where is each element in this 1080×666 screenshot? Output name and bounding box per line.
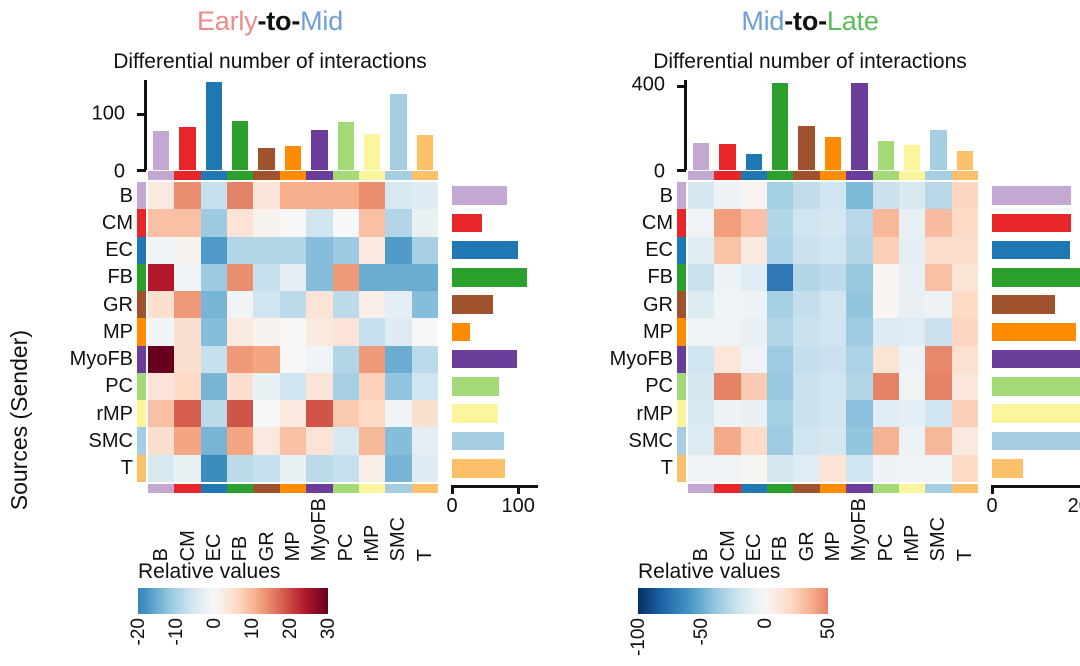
colorbar-tick-50: 50	[819, 618, 838, 639]
heatmap-cell	[227, 455, 253, 482]
row-bar-series-left	[452, 182, 538, 482]
colorbar-ticks-left: -20-100102030	[138, 614, 328, 660]
heatmap-cell	[767, 455, 793, 482]
row-color-key-left	[137, 182, 146, 482]
top-bar-slot	[174, 80, 200, 170]
heatmap-cell	[793, 318, 819, 345]
heatmap-cell	[820, 237, 846, 264]
row-key-FB	[137, 264, 146, 291]
heatmap-cell	[952, 346, 978, 373]
row-bar-slot	[452, 182, 538, 209]
col-label-text: T	[955, 498, 975, 561]
col-label-GR: GR	[793, 498, 819, 561]
heatmap-cell	[846, 209, 872, 236]
top-chart-tick: 0	[677, 169, 686, 172]
heatmap-cell	[306, 318, 332, 345]
heatmap-cell	[767, 400, 793, 427]
col-key-CM	[174, 171, 200, 180]
heatmap-cell	[227, 264, 253, 291]
row-key-PC	[677, 373, 686, 400]
heatmap-cell	[688, 237, 714, 264]
row-key-T	[677, 455, 686, 482]
col-label-text: MyoFB	[309, 498, 329, 561]
top-bar-series-left	[148, 80, 438, 170]
row-bar-EC	[992, 241, 1070, 260]
col-label-FB: FB	[227, 498, 253, 561]
row-bar-slot	[992, 291, 1080, 318]
top-bar-CM	[719, 144, 735, 170]
heatmap-cell	[280, 373, 306, 400]
col-label-CM: CM	[174, 498, 200, 561]
heatmap-cell	[820, 264, 846, 291]
col-color-key-bottom-right	[688, 484, 978, 493]
top-bar-GR	[798, 126, 814, 170]
col-label-text: SMC	[388, 498, 408, 561]
col-key-B	[148, 171, 174, 180]
heatmap-cell	[385, 346, 411, 373]
col-label-text: CM	[718, 498, 738, 561]
heatmap-cell	[952, 373, 978, 400]
heatmap-cell	[253, 237, 279, 264]
heatmap-cell	[148, 346, 174, 373]
heatmap-cell	[820, 400, 846, 427]
heatmap-cell	[333, 182, 359, 209]
col-key-rMP	[899, 484, 925, 493]
row-labels-left: BCMECFBGRMPMyoFBPCrMPSMCT	[70, 182, 133, 482]
heatmap-cell	[741, 373, 767, 400]
heatmap-cell	[333, 264, 359, 291]
heatmap-cell	[385, 373, 411, 400]
heatmap-wrap-left: BCMECFBGRMPMyoFBPCrMPSMCT BCMECFBGRMPMyo…	[148, 182, 438, 482]
row-bar-slot	[992, 182, 1080, 209]
colorbar-tick-30: 30	[319, 618, 338, 639]
heatmap-cell	[873, 427, 899, 454]
heatmap-cell	[846, 346, 872, 373]
row-bar-MyoFB	[452, 350, 517, 369]
heatmap-cell	[306, 237, 332, 264]
heatmap-cell	[148, 318, 174, 345]
row-bar-PC	[452, 377, 499, 396]
heatmap-cell	[253, 455, 279, 482]
top-bar-rMP	[364, 134, 380, 170]
heatmap-cell	[793, 291, 819, 318]
heatmap-cell	[952, 318, 978, 345]
heatmap-cell	[148, 291, 174, 318]
heatmap-cell	[385, 455, 411, 482]
heatmap-cell	[873, 291, 899, 318]
heatmap-cell	[253, 264, 279, 291]
heatmap-cell	[820, 455, 846, 482]
heatmap-cell	[925, 237, 951, 264]
col-key-B	[688, 171, 714, 180]
heatmap-cell	[333, 291, 359, 318]
row-label-MP: MP	[610, 318, 673, 345]
heatmap-cell	[741, 291, 767, 318]
heatmap-cell	[412, 182, 438, 209]
top-bar-B	[693, 143, 709, 170]
colorbar-tick--50: -50	[692, 618, 711, 645]
heatmap-cell	[412, 427, 438, 454]
top-chart-tick: 0	[137, 169, 146, 172]
heatmap-cell	[174, 264, 200, 291]
heatmap-cell	[385, 400, 411, 427]
row-label-PC: PC	[610, 373, 673, 400]
col-label-EC: EC	[741, 498, 767, 561]
heatmap-cell	[148, 400, 174, 427]
col-labels-left: BCMECFBGRMPMyoFBPCrMPSMCT	[148, 498, 438, 561]
col-label-SMC: SMC	[385, 498, 411, 561]
heatmap-cell	[688, 318, 714, 345]
heatmap-cell	[306, 264, 332, 291]
col-label-rMP: rMP	[359, 498, 385, 561]
row-bar-slot	[452, 455, 538, 482]
col-key-MyoFB	[846, 484, 872, 493]
heatmap-cell	[846, 427, 872, 454]
heatmap-grid-left	[148, 182, 438, 482]
col-key-CM	[174, 484, 200, 493]
legend-title-right: Relative values	[638, 560, 828, 584]
heatmap-cell	[227, 291, 253, 318]
heatmap-cell	[741, 237, 767, 264]
title-part-2: Mid	[300, 6, 343, 36]
top-bar-T	[957, 151, 973, 170]
heatmap-cell	[412, 455, 438, 482]
row-key-CM	[677, 209, 686, 236]
heatmap-cell	[359, 400, 385, 427]
heatmap-cell	[280, 346, 306, 373]
heatmap-cell	[793, 373, 819, 400]
heatmap-cell	[820, 318, 846, 345]
row-label-B: B	[610, 182, 673, 209]
colorbar-tick--20: -20	[129, 618, 148, 645]
row-label-MyoFB: MyoFB	[610, 346, 673, 373]
row-key-T	[137, 455, 146, 482]
col-key-MyoFB	[306, 484, 332, 493]
heatmap-cell	[174, 318, 200, 345]
top-bar-chart-left: 0100	[148, 80, 438, 170]
col-key-T	[952, 484, 978, 493]
colorbar-right	[638, 588, 828, 614]
heatmap-cell	[359, 264, 385, 291]
top-bar-slot	[333, 80, 359, 170]
row-key-CM	[137, 209, 146, 236]
heatmap-cell	[793, 182, 819, 209]
heatmap-cell	[688, 346, 714, 373]
col-key-rMP	[899, 171, 925, 180]
row-bar-rMP	[452, 404, 498, 423]
col-label-text: PC	[336, 498, 356, 561]
heatmap-cell	[412, 291, 438, 318]
heatmap-cell	[201, 400, 227, 427]
heatmap-cell	[952, 182, 978, 209]
heatmap-cell	[688, 373, 714, 400]
top-bar-T	[417, 135, 433, 170]
heatmap-cell	[820, 427, 846, 454]
heatmap-cell	[899, 400, 925, 427]
heatmap-cell	[899, 346, 925, 373]
col-color-key-bottom-left	[148, 484, 438, 493]
top-bar-slot	[385, 80, 411, 170]
heatmap-cell	[688, 264, 714, 291]
row-key-SMC	[137, 427, 146, 454]
col-key-rMP	[359, 171, 385, 180]
heatmap-cell	[385, 264, 411, 291]
top-bar-slot	[148, 80, 174, 170]
row-bar-slot	[452, 346, 538, 373]
col-key-FB	[767, 171, 793, 180]
heatmap-cell	[873, 318, 899, 345]
heatmap-cell	[227, 373, 253, 400]
heatmap-cell	[793, 237, 819, 264]
top-bar-slot	[925, 80, 951, 170]
y-axis-label-sources: Sources (Sender)	[6, 330, 33, 510]
row-axis-tick	[991, 485, 994, 494]
top-bar-FB	[772, 83, 788, 170]
heatmap-cell	[925, 346, 951, 373]
heatmap-cell	[873, 400, 899, 427]
heatmap-cell	[846, 237, 872, 264]
heatmap-cell	[148, 373, 174, 400]
heatmap-cell	[952, 264, 978, 291]
heatmap-cell	[767, 237, 793, 264]
title-part-2: Late	[827, 6, 879, 36]
row-key-GR	[137, 291, 146, 318]
row-key-EC	[137, 237, 146, 264]
colorbar-left	[138, 588, 328, 614]
row-axis-tick	[517, 485, 520, 494]
row-key-EC	[677, 237, 686, 264]
row-key-rMP	[677, 400, 686, 427]
row-label-rMP: rMP	[70, 400, 133, 427]
top-bar-GR	[258, 148, 274, 171]
top-bar-slot	[767, 80, 793, 170]
heatmap-cell	[280, 237, 306, 264]
col-label-text: B	[151, 498, 171, 561]
heatmap-cell	[412, 209, 438, 236]
panel-mid-to-late: Mid-to-Late Differential number of inter…	[540, 0, 1080, 666]
col-key-B	[688, 484, 714, 493]
heatmap-cell	[714, 400, 740, 427]
row-label-SMC: SMC	[70, 427, 133, 454]
heatmap-cell	[306, 427, 332, 454]
heatmap-cell	[741, 182, 767, 209]
row-bar-CM	[992, 214, 1071, 233]
col-label-text: FB	[770, 498, 790, 561]
top-bar-slot	[688, 80, 714, 170]
heatmap-cell	[741, 318, 767, 345]
heatmap-cell	[846, 318, 872, 345]
col-label-MyoFB: MyoFB	[306, 498, 332, 561]
heatmap-cell	[280, 318, 306, 345]
heatmap-cell	[688, 455, 714, 482]
col-label-text: GR	[257, 498, 277, 561]
col-key-MP	[280, 171, 306, 180]
top-chart-tick-label: 100	[92, 103, 125, 123]
col-key-GR	[253, 484, 279, 493]
row-bar-MP	[992, 323, 1076, 342]
heatmap-cell	[201, 373, 227, 400]
heatmap-cell	[412, 400, 438, 427]
heatmap-cell	[306, 209, 332, 236]
heatmap-cell	[174, 237, 200, 264]
heatmap-cell	[688, 209, 714, 236]
heatmap-cell	[306, 455, 332, 482]
heatmap-cell	[359, 209, 385, 236]
row-key-B	[137, 182, 146, 209]
heatmap-cell	[333, 346, 359, 373]
heatmap-cell	[148, 182, 174, 209]
heatmap-cell	[412, 318, 438, 345]
top-chart-tick-label: 400	[632, 75, 665, 95]
top-bar-PC	[338, 122, 354, 170]
row-axis-tick	[451, 485, 454, 494]
row-bar-slot	[992, 264, 1080, 291]
heatmap-cell	[227, 427, 253, 454]
row-label-FB: FB	[70, 264, 133, 291]
heatmap-cell	[201, 346, 227, 373]
panel-subtitle-right: Differential number of interactions	[540, 50, 1080, 74]
row-bar-slot	[452, 291, 538, 318]
row-bar-slot	[992, 455, 1080, 482]
top-bar-slot	[359, 80, 385, 170]
top-bar-slot	[952, 80, 978, 170]
heatmap-cell	[714, 209, 740, 236]
heatmap-cell	[952, 209, 978, 236]
col-key-PC	[873, 484, 899, 493]
row-bar-slot	[992, 209, 1080, 236]
top-bar-MP	[285, 146, 301, 170]
col-label-MyoFB: MyoFB	[846, 498, 872, 561]
heatmap-cell	[767, 373, 793, 400]
col-key-EC	[201, 484, 227, 493]
heatmap-cell	[174, 427, 200, 454]
figure-root: Early-to-Mid Differential number of inte…	[0, 0, 1080, 666]
row-bar-chart-right: 0200	[992, 182, 1080, 482]
heatmap-cell	[280, 291, 306, 318]
heatmap-cell	[793, 209, 819, 236]
col-label-T: T	[412, 498, 438, 561]
heatmap-cell	[201, 455, 227, 482]
heatmap-cell	[253, 400, 279, 427]
heatmap-cell	[899, 209, 925, 236]
col-key-PC	[333, 171, 359, 180]
heatmap-cell	[412, 373, 438, 400]
heatmap-cell	[846, 291, 872, 318]
heatmap-cell	[280, 264, 306, 291]
heatmap-cell	[385, 318, 411, 345]
heatmap-cell	[899, 373, 925, 400]
heatmap-cell	[952, 427, 978, 454]
heatmap-cell	[280, 427, 306, 454]
col-label-PC: PC	[333, 498, 359, 561]
col-label-text: B	[691, 498, 711, 561]
col-label-text: EC	[204, 498, 224, 561]
col-key-SMC	[925, 171, 951, 180]
heatmap-cell	[714, 264, 740, 291]
heatmap-cell	[846, 455, 872, 482]
row-axis-tick-label: 100	[501, 496, 534, 516]
heatmap-cell	[227, 346, 253, 373]
heatmap-cell	[201, 182, 227, 209]
row-bar-slot	[992, 400, 1080, 427]
col-key-T	[412, 484, 438, 493]
top-bar-SMC	[930, 130, 946, 170]
row-key-GR	[677, 291, 686, 318]
col-key-FB	[767, 484, 793, 493]
top-bar-chart-right: 0400	[688, 80, 978, 170]
col-label-FB: FB	[767, 498, 793, 561]
col-color-key-top-right	[688, 171, 978, 180]
col-key-FB	[227, 484, 253, 493]
col-label-text: MyoFB	[849, 498, 869, 561]
col-label-text: rMP	[902, 498, 922, 561]
row-bar-chart-left: 0100	[452, 182, 538, 482]
row-bar-PC	[992, 377, 1080, 396]
col-label-T: T	[952, 498, 978, 561]
heatmap-cell	[306, 182, 332, 209]
heatmap-cell	[741, 400, 767, 427]
heatmap-cell	[174, 373, 200, 400]
heatmap-cell	[925, 264, 951, 291]
heatmap-cell	[767, 209, 793, 236]
heatmap-cell	[714, 318, 740, 345]
row-key-B	[677, 182, 686, 209]
row-bar-B	[452, 186, 507, 205]
top-bar-slot	[820, 80, 846, 170]
row-label-MP: MP	[70, 318, 133, 345]
row-key-rMP	[137, 400, 146, 427]
row-label-rMP: rMP	[610, 400, 673, 427]
heatmap-cell	[385, 427, 411, 454]
row-bar-slot	[992, 346, 1080, 373]
row-bar-slot	[452, 427, 538, 454]
top-bar-EC	[746, 154, 762, 170]
heatmap-cell	[333, 237, 359, 264]
row-bar-slot	[452, 237, 538, 264]
row-label-EC: EC	[610, 237, 673, 264]
heatmap-cell	[899, 455, 925, 482]
heatmap-cell	[873, 373, 899, 400]
row-axis-tick-label: 200	[1068, 496, 1080, 516]
colorbar-tick-10: 10	[243, 618, 262, 639]
row-bar-slot	[992, 373, 1080, 400]
heatmap-cell	[253, 373, 279, 400]
heatmap-cell	[846, 373, 872, 400]
heatmap-cell	[767, 318, 793, 345]
heatmap-cell	[714, 291, 740, 318]
row-bar-slot	[992, 318, 1080, 345]
top-chart-tick: 400	[677, 85, 686, 88]
heatmap-cell	[174, 455, 200, 482]
row-bar-T	[452, 459, 505, 478]
top-bar-slot	[306, 80, 332, 170]
heatmap-cell	[873, 237, 899, 264]
heatmap-cell	[688, 427, 714, 454]
heatmap-cell	[174, 346, 200, 373]
row-bar-SMC	[452, 432, 504, 451]
col-key-MP	[280, 484, 306, 493]
legend-left: Relative values -20-100102030	[138, 560, 328, 660]
heatmap-cell	[925, 373, 951, 400]
top-bar-slot	[741, 80, 767, 170]
row-key-MyoFB	[137, 346, 146, 373]
heatmap-cell	[333, 427, 359, 454]
row-label-MyoFB: MyoFB	[70, 346, 133, 373]
heatmap-cell	[846, 182, 872, 209]
row-bar-slot	[992, 237, 1080, 264]
heatmap-cell	[767, 264, 793, 291]
col-label-MP: MP	[820, 498, 846, 561]
